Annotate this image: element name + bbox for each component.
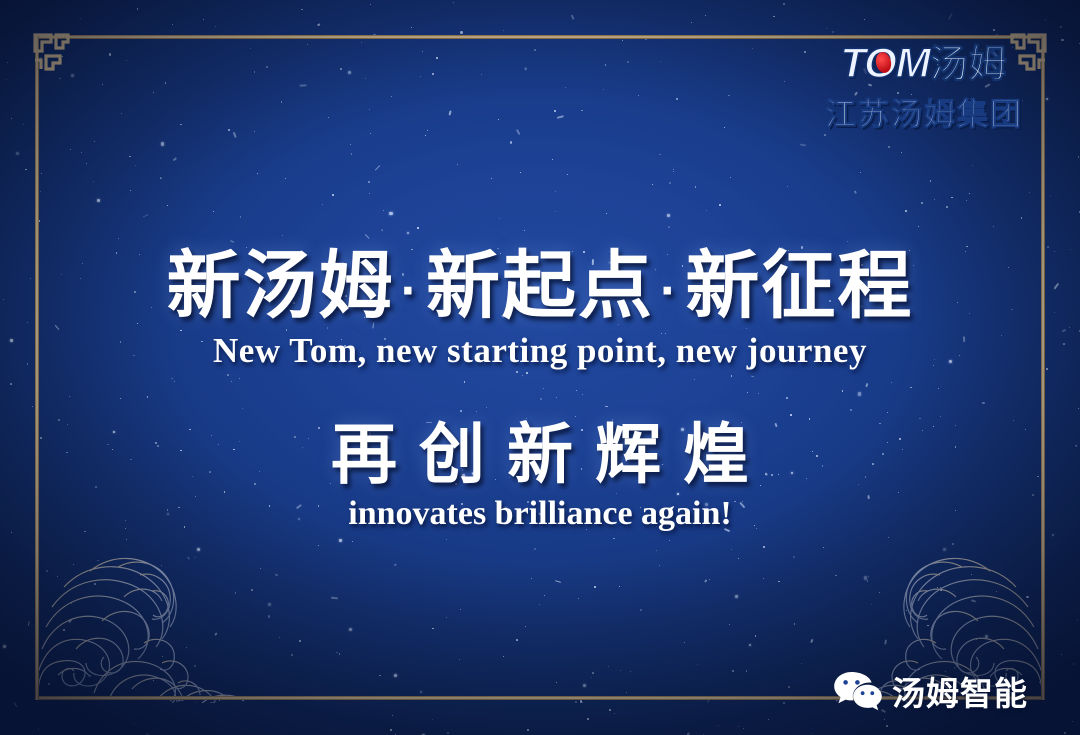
headline-separator-1: ·: [395, 262, 426, 320]
poster-canvas: TOM汤姆 江苏汤姆集团 新汤姆·新起点·新征程 New Tom, new st…: [0, 0, 1080, 735]
tom-logo: TOM汤姆 江苏汤姆集团: [824, 40, 1024, 134]
headline-part-3: 新征程: [685, 244, 913, 327]
headline-chinese-primary: 新汤姆·新起点·新征程: [0, 238, 1080, 339]
headline-chinese-secondary: 再创新辉煌: [0, 408, 1080, 500]
logo-wordmark-row: TOM汤姆: [824, 40, 1024, 86]
wechat-watermark: 汤姆智能: [833, 667, 1028, 715]
headline-english-primary: New Tom, new starting point, new journey: [0, 326, 1080, 376]
logo-chinese-text: 汤姆: [930, 44, 1008, 86]
logo-company-name: 江苏汤姆集团: [824, 89, 1024, 134]
fret-corner-ornament-top-left: [22, 22, 88, 88]
wechat-icon: [833, 670, 883, 712]
headline-part-1: 新汤姆: [167, 244, 395, 327]
cloud-wave-ornament-bottom-left: [32, 523, 267, 703]
wechat-account-label: 汤姆智能: [892, 667, 1028, 715]
headline-separator-2: ·: [654, 262, 685, 320]
headline-part-2: 新起点: [426, 244, 654, 327]
headline-english-secondary: innovates brilliance again!: [0, 489, 1080, 539]
